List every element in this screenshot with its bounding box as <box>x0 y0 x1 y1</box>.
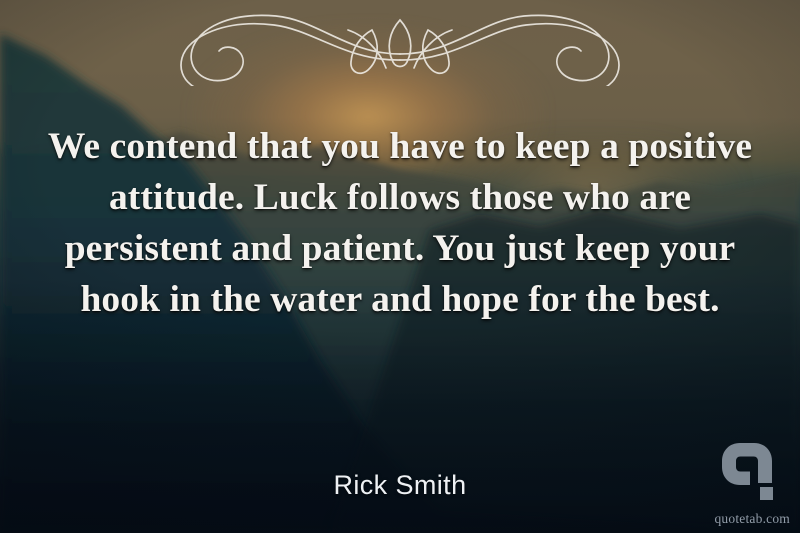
quote-text: We contend that you have to keep a posit… <box>0 121 800 325</box>
flourish-divider-icon <box>80 6 720 86</box>
quote-card: We contend that you have to keep a posit… <box>0 0 800 533</box>
quote-author: Rick Smith <box>0 468 800 502</box>
quotetab-q-logo-icon <box>716 443 778 505</box>
watermark[interactable]: quotetab.com <box>698 443 792 529</box>
watermark-site-label: quotetab.com <box>714 511 790 527</box>
